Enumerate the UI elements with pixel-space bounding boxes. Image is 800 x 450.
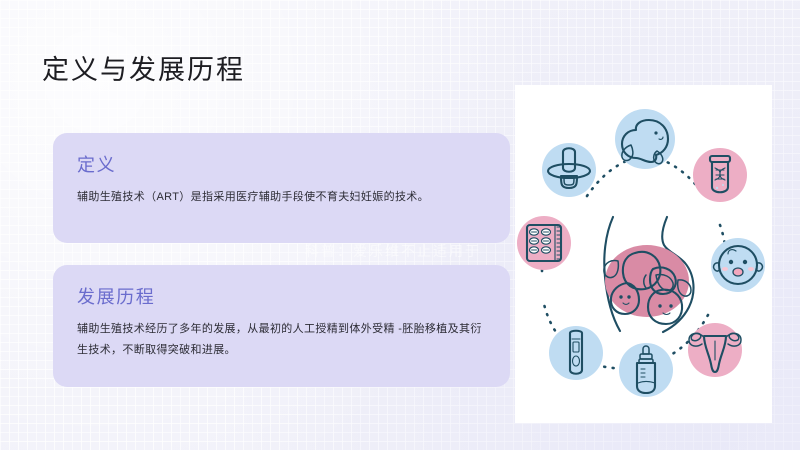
card-history-heading: 发展历程 (77, 283, 486, 309)
twins-in-womb-icon (604, 245, 691, 324)
watermark-text: 科普：爱乐维不止适用于 (305, 241, 481, 261)
card-history: 发展历程 辅助生殖技术经历了多年的发展，从最初的人工授精到体外受精 -胚胎移植及… (53, 265, 510, 387)
pacifier-icon (542, 143, 596, 197)
art-cycle-illustration: .ol { fill:none; stroke:#1f4e63; stroke-… (515, 85, 772, 423)
pill-blister-icon (517, 216, 571, 270)
card-history-body: 辅助生殖技术经历了多年的发展，从最初的人工授精到体外受精 -胚胎移植及其衍生技术… (77, 319, 486, 362)
page-title: 定义与发展历程 (42, 48, 245, 87)
card-definition-heading: 定义 (77, 151, 486, 177)
dna-test-tube-icon (693, 148, 747, 202)
baby-face-icon (711, 238, 765, 292)
slide-canvas: 定义与发展历程 定义 辅助生殖技术（ART）是指采用医疗辅助手段使不育夫妇妊娠的… (0, 0, 800, 450)
pregnancy-test-icon (549, 326, 603, 380)
card-definition: 定义 辅助生殖技术（ART）是指采用医疗辅助手段使不育夫妇妊娠的技术。 (53, 133, 510, 243)
fetus-icon (615, 109, 675, 169)
uterus-icon (688, 323, 742, 377)
card-definition-body: 辅助生殖技术（ART）是指采用医疗辅助手段使不育夫妇妊娠的技术。 (77, 187, 486, 208)
baby-bottle-icon (619, 343, 673, 397)
illustration-panel: .ol { fill:none; stroke:#1f4e63; stroke-… (515, 85, 772, 423)
